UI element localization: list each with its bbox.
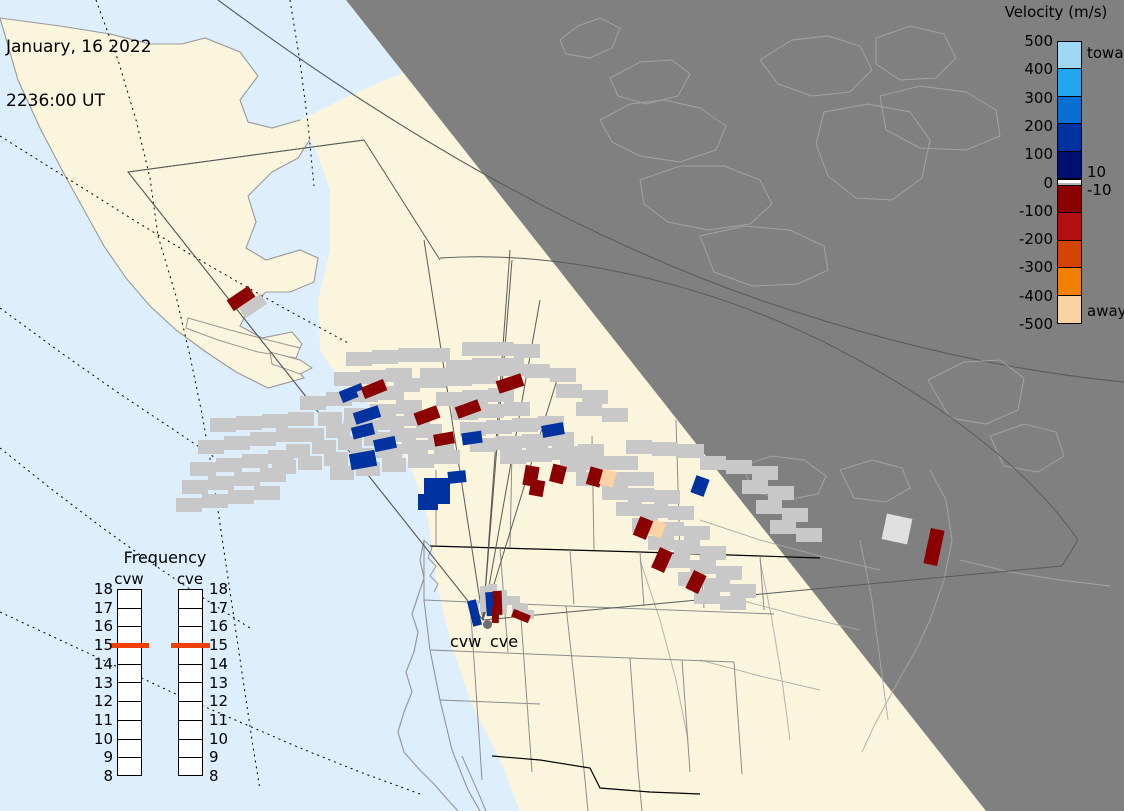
velocity-tick-label: -200	[997, 230, 1053, 248]
ground-scatter-cell	[652, 442, 678, 456]
ground-scatter-cell	[642, 504, 668, 518]
ground-scatter-cell	[796, 528, 822, 542]
ground-scatter-cell	[770, 520, 796, 534]
velocity-away-label: away	[1087, 302, 1124, 320]
ground-scatter-cell	[208, 476, 234, 490]
ground-scatter-cell	[386, 368, 412, 382]
velocity-color-segment	[1058, 268, 1081, 295]
velocity-near-zero-negative-label: -10	[1087, 181, 1112, 199]
frequency-cell	[118, 683, 141, 702]
velocity-toward-label: toward	[1087, 44, 1124, 62]
frequency-tick-label: 17	[209, 599, 228, 617]
radar-site-label-cvw: cvw	[450, 632, 481, 651]
ground-scatter-cell	[202, 494, 228, 508]
frequency-cell	[179, 590, 202, 609]
ground-scatter-cell	[300, 396, 326, 410]
velocity-colorbar	[1057, 41, 1082, 324]
ground-scatter-cell	[654, 490, 680, 504]
frequency-cell	[179, 702, 202, 721]
velocity-color-segment	[1058, 296, 1081, 323]
ground-scatter-cell	[704, 578, 730, 592]
ground-scatter-cell	[628, 488, 654, 502]
velocity-color-segment	[1058, 186, 1081, 213]
ground-scatter-cell	[550, 368, 576, 382]
ground-scatter-cell	[486, 420, 512, 434]
radar-site-label-cve: cve	[490, 632, 518, 651]
velocity-tick-label: 500	[997, 32, 1053, 50]
ground-scatter-cell	[752, 466, 778, 480]
frequency-cell	[118, 609, 141, 628]
velocity-near-zero-positive-label: 10	[1087, 163, 1106, 181]
frequency-tick-label: 17	[89, 599, 113, 617]
ground-scatter-cell	[628, 472, 654, 486]
frequency-panel-title: Frequency	[85, 548, 245, 567]
ground-scatter-cell	[346, 352, 372, 366]
velocity-color-segment	[1058, 69, 1081, 96]
ground-scatter-cell	[552, 446, 578, 460]
ground-scatter-cell	[234, 472, 260, 486]
frequency-tick-label: 12	[209, 692, 228, 710]
ground-scatter-cell	[334, 372, 360, 386]
velocity-color-segment	[1058, 97, 1081, 124]
frequency-tick-label: 15	[89, 636, 113, 654]
ground-scatter-cell	[582, 390, 608, 404]
ground-scatter-cell	[576, 402, 602, 416]
ground-scatter-cell	[716, 566, 742, 580]
frequency-cell	[118, 740, 141, 759]
ground-scatter-cell	[578, 444, 604, 458]
ground-scatter-cell	[742, 480, 768, 494]
frequency-tick-label: 13	[89, 674, 113, 692]
ground-scatter-cell	[312, 440, 336, 454]
velocity-tick-label: 0	[997, 174, 1053, 192]
ground-scatter-cell	[730, 584, 756, 598]
frequency-tick-label: 16	[89, 617, 113, 635]
ground-scatter-cell	[478, 404, 504, 418]
radar-site-marker	[483, 620, 492, 629]
frequency-cell	[118, 665, 141, 684]
velocity-cell[interactable]	[529, 479, 546, 497]
ground-scatter-cell	[372, 350, 398, 364]
ground-scatter-cell	[488, 342, 514, 356]
ground-scatter-cell	[524, 364, 550, 378]
velocity-tick-label: 400	[997, 60, 1053, 78]
frequency-cell	[118, 590, 141, 609]
ground-scatter-cell	[276, 428, 302, 442]
frequency-tick-label: 8	[209, 767, 219, 785]
frequency-tick-label: 13	[209, 674, 228, 692]
ground-scatter-cell	[434, 450, 460, 464]
ground-scatter-cell	[514, 344, 540, 358]
frequency-cell	[179, 665, 202, 684]
ground-scatter-cell	[300, 428, 324, 442]
ground-scatter-cell	[182, 480, 208, 494]
ground-scatter-cell	[250, 432, 276, 446]
ground-scatter-cell	[512, 418, 538, 432]
ground-scatter-cell	[398, 348, 424, 362]
ground-scatter-cell	[446, 372, 472, 386]
frequency-tick-label: 15	[209, 636, 228, 654]
ground-scatter-cell	[408, 454, 434, 468]
ground-scatter-cell	[436, 392, 462, 406]
ground-scatter-cell	[616, 502, 642, 516]
ground-scatter-cell	[224, 436, 250, 450]
velocity-color-segment	[1058, 152, 1081, 179]
ground-scatter-cell	[254, 486, 280, 500]
ground-scatter-cell	[556, 384, 582, 398]
ground-scatter-cell	[424, 348, 450, 362]
ground-scatter-cell	[602, 408, 628, 422]
ground-scatter-cell	[402, 440, 428, 454]
velocity-cell[interactable]	[492, 607, 500, 623]
velocity-cell[interactable]	[447, 470, 466, 484]
frequency-tick-label: 8	[89, 767, 113, 785]
radar-map-view: January, 16 2022 2236:00 UT Velocity (m/…	[0, 0, 1124, 811]
frequency-cell	[179, 758, 202, 777]
frequency-cell	[118, 702, 141, 721]
velocity-tick-label: 100	[997, 145, 1053, 163]
ground-scatter-cell	[684, 526, 710, 540]
frequency-tick-label: 16	[209, 617, 228, 635]
ground-scatter-cell	[198, 440, 224, 454]
velocity-tick-label: 200	[997, 117, 1053, 135]
velocity-legend-title: Velocity (m/s)	[988, 3, 1124, 21]
frequency-bar-cve[interactable]	[178, 589, 203, 776]
frequency-tick-label: 9	[209, 748, 219, 766]
ground-scatter-cell	[190, 462, 216, 476]
ground-scatter-cell	[720, 596, 746, 610]
ground-scatter-cell	[782, 508, 808, 522]
ground-scatter-cell	[586, 456, 612, 470]
frequency-cell	[118, 721, 141, 740]
ground-scatter-cell	[236, 416, 262, 430]
ground-scatter-cell	[612, 456, 638, 470]
ground-scatter-cell	[382, 458, 406, 472]
frequency-tick-label: 18	[89, 580, 113, 598]
ground-scatter-cell	[506, 596, 520, 605]
ground-scatter-cell	[268, 450, 294, 464]
frequency-tick-label: 11	[89, 711, 113, 729]
frequency-tick-label: 10	[89, 730, 113, 748]
ground-scatter-cell	[288, 412, 314, 426]
frequency-cell	[118, 646, 141, 665]
ground-scatter-cell	[700, 546, 726, 560]
frequency-tick-label: 14	[89, 655, 113, 673]
ground-scatter-cell	[216, 458, 242, 472]
velocity-color-segment	[1058, 124, 1081, 151]
ground-scatter-cell	[674, 540, 700, 554]
velocity-tick-label: -400	[997, 287, 1053, 305]
velocity-color-segment	[1058, 213, 1081, 240]
velocity-tick-label: -300	[997, 258, 1053, 276]
velocity-tick-label: -100	[997, 202, 1053, 220]
frequency-tick-label: 12	[89, 692, 113, 710]
ground-scatter-cell	[210, 418, 236, 432]
frequency-cell	[179, 721, 202, 740]
velocity-cell[interactable]	[882, 514, 913, 545]
timestamp-time: 2236:00 UT	[6, 92, 152, 110]
frequency-cell	[179, 740, 202, 759]
ground-scatter-cell	[262, 414, 288, 428]
ground-scatter-cell	[526, 448, 552, 462]
ground-scatter-cell	[768, 486, 794, 500]
velocity-color-segment	[1058, 42, 1081, 69]
ground-scatter-cell	[496, 436, 522, 450]
ground-scatter-cell	[626, 440, 652, 454]
velocity-cell[interactable]	[418, 494, 438, 510]
ground-scatter-cell	[462, 342, 488, 356]
ground-scatter-cell	[228, 490, 254, 504]
ground-scatter-cell	[446, 360, 472, 374]
frequency-tick-label: 9	[89, 748, 113, 766]
frequency-marker-cvw	[110, 643, 149, 648]
ground-scatter-cell	[260, 468, 286, 482]
ground-scatter-cell	[700, 456, 726, 470]
timestamp: January, 16 2022 2236:00 UT	[6, 2, 152, 146]
ground-scatter-cell	[242, 454, 268, 468]
frequency-cell	[179, 646, 202, 665]
frequency-bar-cvw[interactable]	[117, 589, 142, 776]
velocity-zero-band	[1058, 179, 1081, 186]
velocity-tick-label: -500	[997, 315, 1053, 333]
ground-scatter-cell	[298, 456, 322, 470]
ground-scatter-cell	[318, 412, 342, 426]
ground-scatter-cell	[504, 402, 530, 416]
velocity-color-segment	[1058, 241, 1081, 268]
ground-scatter-cell	[500, 450, 526, 464]
frequency-tick-label: 10	[209, 730, 228, 748]
ground-scatter-cell	[472, 370, 498, 384]
ground-scatter-cell	[420, 368, 446, 382]
frequency-cell	[118, 758, 141, 777]
velocity-tick-label: 300	[997, 89, 1053, 107]
ground-scatter-cell	[378, 416, 404, 430]
ground-scatter-cell	[756, 500, 782, 514]
frequency-marker-cve	[171, 643, 210, 648]
ground-scatter-cell	[324, 452, 348, 466]
frequency-tick-label: 11	[209, 711, 228, 729]
frequency-cell	[179, 609, 202, 628]
ground-scatter-cell	[726, 460, 752, 474]
frequency-cell	[179, 683, 202, 702]
ground-scatter-cell	[602, 486, 628, 500]
timestamp-date: January, 16 2022	[6, 38, 152, 56]
ground-scatter-cell	[668, 506, 694, 520]
ground-scatter-cell	[472, 358, 498, 372]
frequency-tick-label: 18	[209, 580, 228, 598]
ground-scatter-cell	[678, 444, 704, 458]
ground-scatter-cell	[176, 498, 202, 512]
frequency-tick-label: 14	[209, 655, 228, 673]
ground-scatter-cell	[330, 466, 354, 480]
